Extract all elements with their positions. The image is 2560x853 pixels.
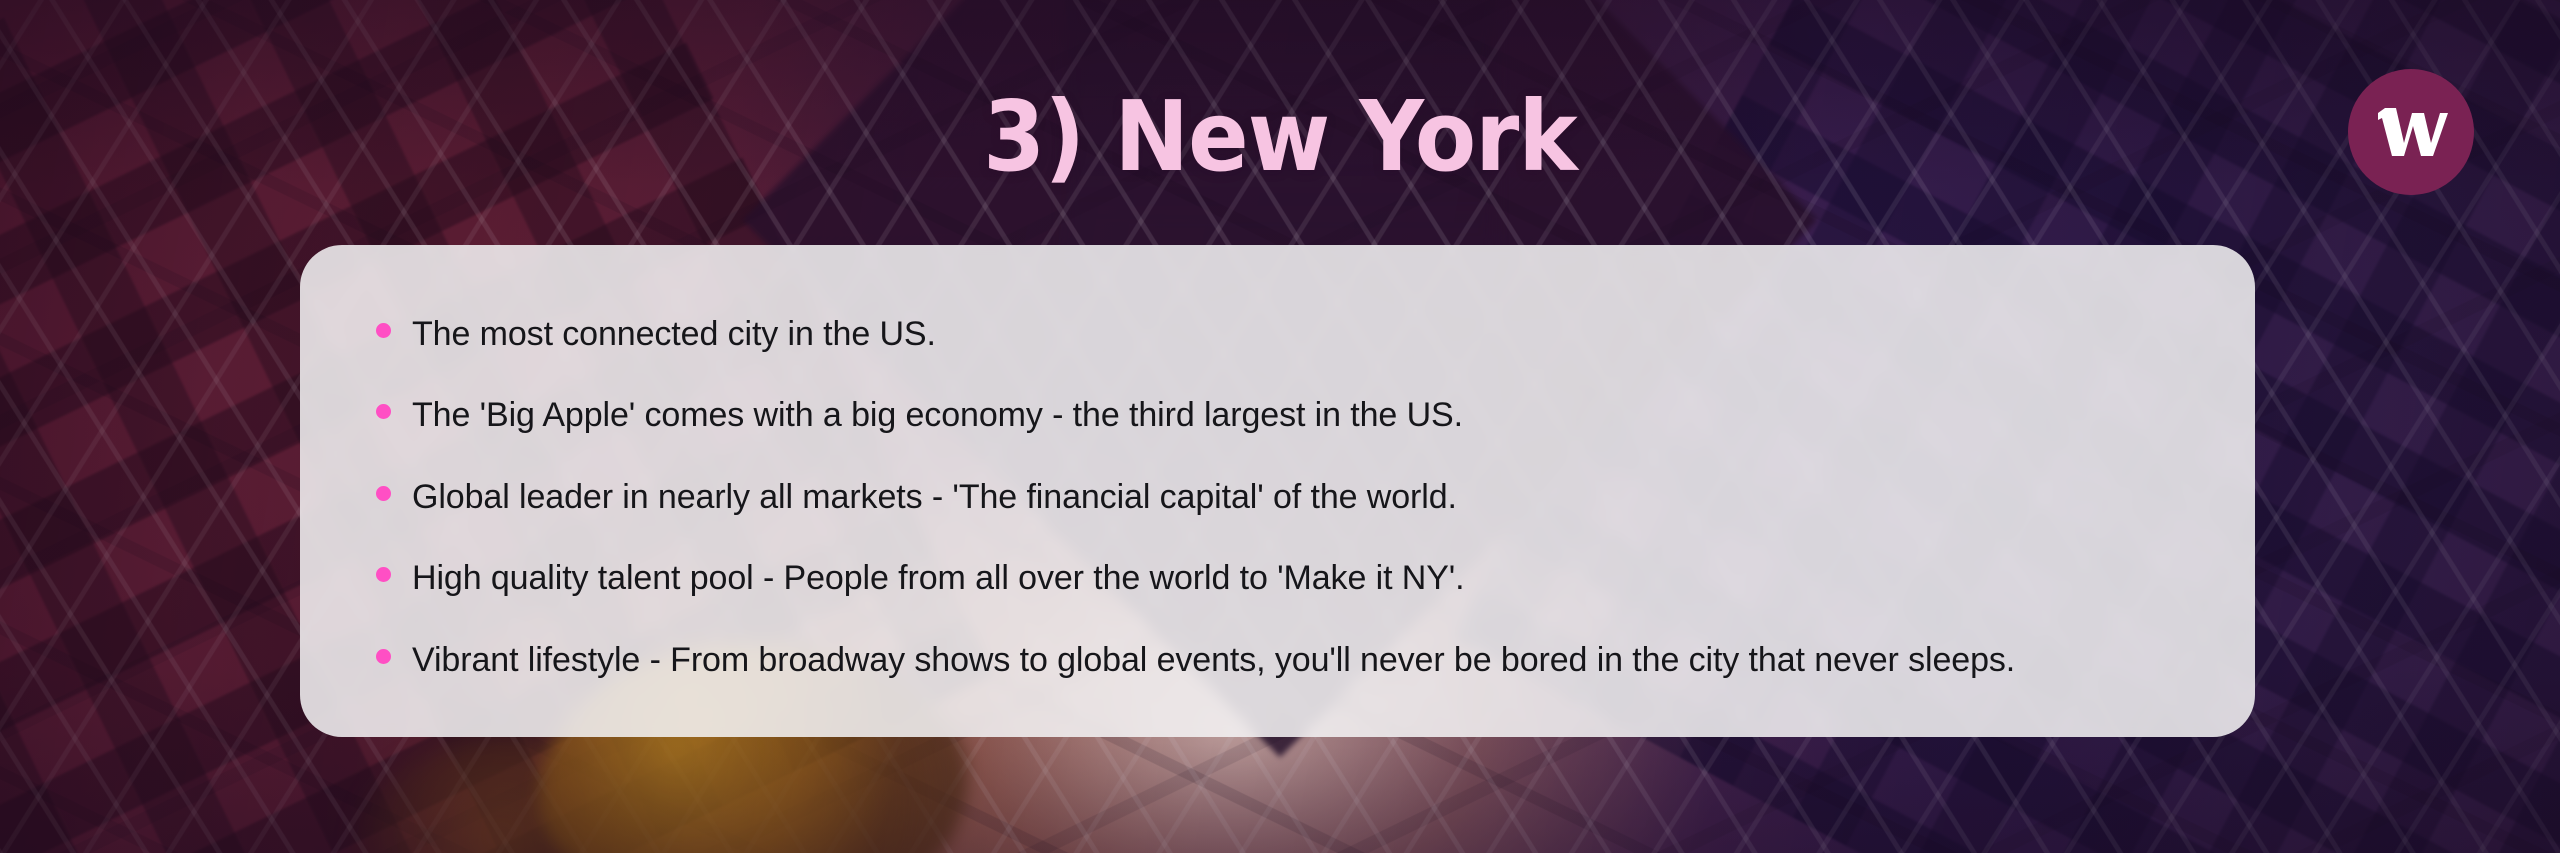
bullet-text: The most connected city in the US.: [412, 315, 936, 354]
bullet-dot-icon: [376, 567, 391, 582]
brand-logo-badge[interactable]: [2348, 69, 2474, 195]
list-item: The most connected city in the US.: [376, 315, 2179, 354]
w-logo-icon: [2374, 105, 2448, 159]
list-item: High quality talent pool - People from a…: [376, 559, 2179, 598]
bullet-dot-icon: [376, 323, 391, 338]
bullet-text: Vibrant lifestyle - From broadway shows …: [412, 641, 2015, 680]
bullet-text: The 'Big Apple' comes with a big economy…: [412, 396, 1463, 435]
list-item: Vibrant lifestyle - From broadway shows …: [376, 641, 2179, 680]
list-item: The 'Big Apple' comes with a big economy…: [376, 396, 2179, 435]
bullet-dot-icon: [376, 649, 391, 664]
bullet-list: The most connected city in the US. The '…: [376, 315, 2179, 680]
bullet-text: High quality talent pool - People from a…: [412, 559, 1465, 598]
list-item: Global leader in nearly all markets - 'T…: [376, 478, 2179, 517]
bullet-dot-icon: [376, 404, 391, 419]
slide-canvas: 3) New York The most connected city in t…: [0, 0, 2560, 853]
bullet-text: Global leader in nearly all markets - 'T…: [412, 478, 1457, 517]
bullet-dot-icon: [376, 486, 391, 501]
content-card: The most connected city in the US. The '…: [300, 245, 2255, 737]
slide-title: 3) New York: [102, 88, 2457, 185]
